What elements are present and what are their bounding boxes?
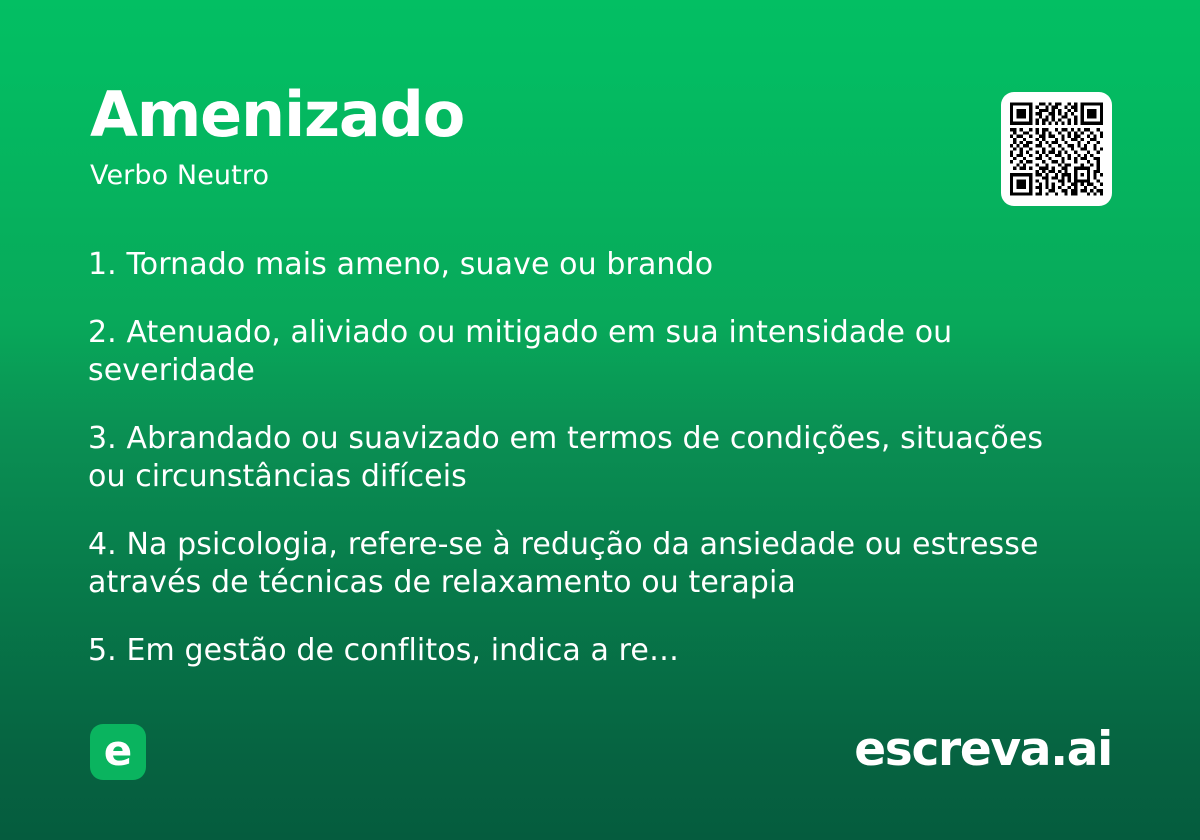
- definition-list: 1. Tornado mais ameno, suave ou brando 2…: [88, 246, 1078, 670]
- brand-logo-letter: e: [90, 724, 146, 780]
- brand-logo-mark: e: [90, 724, 146, 780]
- list-item: 3. Abrandado ou suavizado em termos de c…: [88, 420, 1078, 496]
- list-item: 1. Tornado mais ameno, suave ou brando: [88, 246, 1078, 284]
- brand-wordmark: escreva.ai: [854, 722, 1112, 778]
- list-item: 5. Em gestão de conflitos, indica a re…: [88, 632, 1078, 670]
- card-header: Amenizado Verbo Neutro: [90, 84, 1110, 189]
- list-item: 4. Na psicologia, refere-se à redução da…: [88, 526, 1078, 602]
- list-item: 2. Atenuado, aliviado ou mitigado em sua…: [88, 314, 1078, 390]
- dictionary-word-card: Amenizado Verbo Neutro: [0, 0, 1200, 840]
- word-class-label: Verbo Neutro: [90, 146, 1110, 189]
- qr-code-container[interactable]: [1001, 92, 1112, 206]
- qr-code-icon: [1010, 102, 1103, 196]
- page-title: Amenizado: [90, 84, 1110, 146]
